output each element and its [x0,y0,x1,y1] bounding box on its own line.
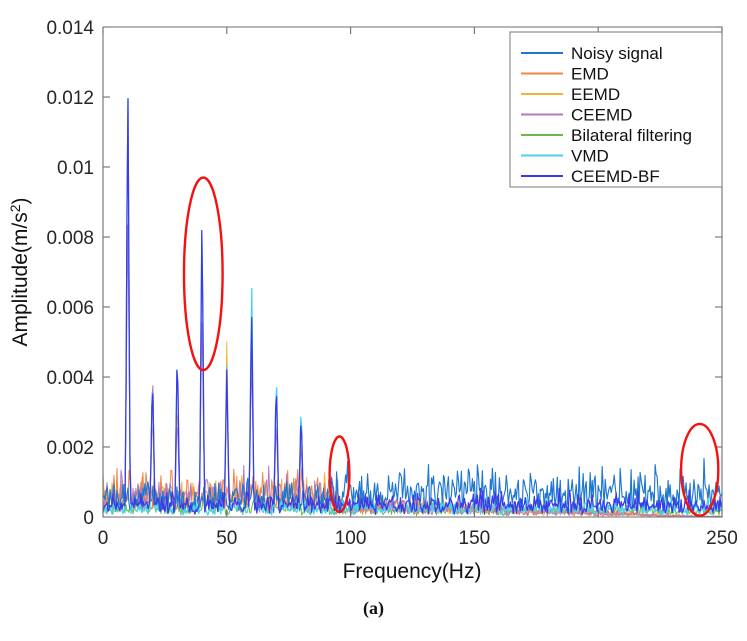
legend-label-3: CEEMD [571,106,632,125]
x-tick-label: 100 [335,528,367,549]
legend-label-2: EEMD [571,85,620,104]
series-eemd [103,225,722,517]
y-tick-label: 0.014 [46,18,94,39]
y-tick-label: 0.01 [57,158,94,179]
svg-text:Amplitude(m/s2): Amplitude(m/s2) [7,198,32,347]
annotation-ellipses [184,177,718,515]
legend-label-0: Noisy signal [571,44,663,63]
legend-label-5: VMD [571,147,609,166]
x-axis-title: Frequency(Hz) [343,560,482,583]
ellipse-240hz [681,424,718,516]
x-tick-label: 200 [582,528,614,549]
y-tick-label: 0.012 [46,88,94,109]
legend-label-4: Bilateral filtering [571,126,692,145]
legend-label-6: CEEMD-BF [571,167,660,186]
y-axis-title: Amplitude(m/s2) [7,198,32,347]
y-tick-label: 0.008 [46,228,94,249]
y-tick-label: 0.004 [46,368,94,389]
y-tick-label: 0.002 [46,438,94,459]
legend-label-1: EMD [571,65,609,84]
x-tick-label: 150 [459,528,491,549]
y-tick-label: 0.006 [46,298,94,319]
legend: Noisy signalEMDEEMDCEEMDBilateral filter… [510,32,722,187]
x-tick-label: 250 [706,528,738,549]
figure-panel-a: 05010015020025000.0020.0040.0060.0080.01… [0,0,747,641]
figure-caption: (a) [0,598,747,619]
x-tick-label: 0 [98,528,109,549]
x-tick-label: 50 [216,528,237,549]
frequency-spectrum-chart: 05010015020025000.0020.0040.0060.0080.01… [0,0,747,641]
y-tick-label: 0 [83,508,94,529]
series-ceemd [103,225,722,517]
